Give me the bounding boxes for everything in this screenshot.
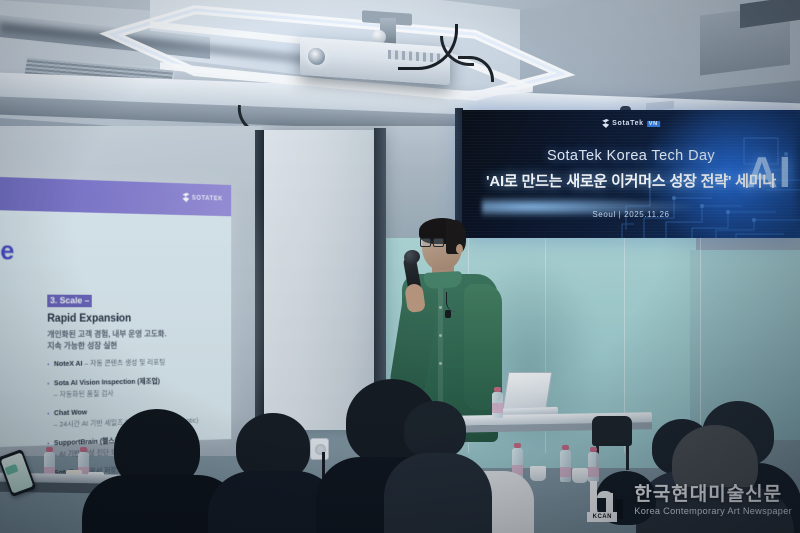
speaker-collar [424, 271, 463, 289]
paper-cup [530, 466, 546, 481]
pillar-edge-left [255, 130, 264, 440]
slide-section-body: 개인화된 고객 경험, 내부 운영 고도화. 지속 가능한 성장 실현 [47, 328, 227, 352]
kcan-logo-icon: KCAN [587, 479, 627, 521]
bullet-name: Sota AI Vision Inspection (제조업) [54, 376, 160, 387]
watermark-text: 한국현대미술신문 Korea Contemporary Art Newspape… [634, 484, 792, 517]
slide-bullet-item: Sota AI Vision Inspection (제조업) – 자동화된 품… [47, 375, 227, 400]
led-pixel-grid [462, 110, 800, 238]
shirt-button [439, 306, 442, 309]
slide-section-heading: Rapid Expansion [47, 313, 227, 325]
watermark-korean: 한국현대미술신문 [634, 484, 792, 505]
slide-title-accent: Scale [0, 235, 14, 266]
bullet-sub: – 자동화된 품질 검사 [47, 387, 227, 401]
water-bottle [492, 392, 503, 418]
water-bottle [588, 452, 599, 482]
wall-seam [700, 238, 701, 453]
water-bottle [560, 450, 571, 482]
wall-pillar [262, 130, 380, 430]
watermark-english: Korea Contemporary Art Newspaper [634, 505, 792, 517]
sotatek-mark-icon [182, 193, 189, 203]
slide-title: o Scale [0, 234, 14, 266]
watermark: KCAN 한국현대미술신문 Korea Contemporary Art New… [587, 479, 792, 521]
bullet-name: NoteX AI [54, 359, 83, 368]
sotatek-logo-text: SOTATEK [192, 194, 223, 201]
slide-section-tag: 3. Scale – [47, 295, 92, 308]
bullet-name: Chat Wow [54, 407, 87, 417]
shirt-button [439, 334, 442, 337]
speaker-ear [456, 244, 463, 254]
projector-lens-icon [308, 47, 325, 65]
shirt-button [439, 362, 442, 365]
led-video-wall: AI SotaTek VN SotaTek Korea Tech Day 'AI… [462, 110, 800, 238]
bullet-desc: – 자동 콘텐츠 생성 및 리포팅 [84, 358, 165, 368]
kcan-logo-text: KCAN [587, 512, 617, 522]
projected-slide: SOTATEK system o Scale 기반의 화 관리 (조업) 지원 … [0, 174, 231, 450]
paper-cup [572, 468, 588, 483]
slide-bullet-item: NoteX AI – 자동 콘텐츠 생성 및 리포팅 [47, 357, 227, 370]
lapel-microphone-icon [445, 310, 451, 318]
sotatek-logo: SOTATEK [182, 193, 222, 204]
seminar-photo-scene: SOTATEK system o Scale 기반의 화 관리 (조업) 지원 … [0, 0, 800, 533]
eyeglasses-icon [420, 238, 446, 247]
